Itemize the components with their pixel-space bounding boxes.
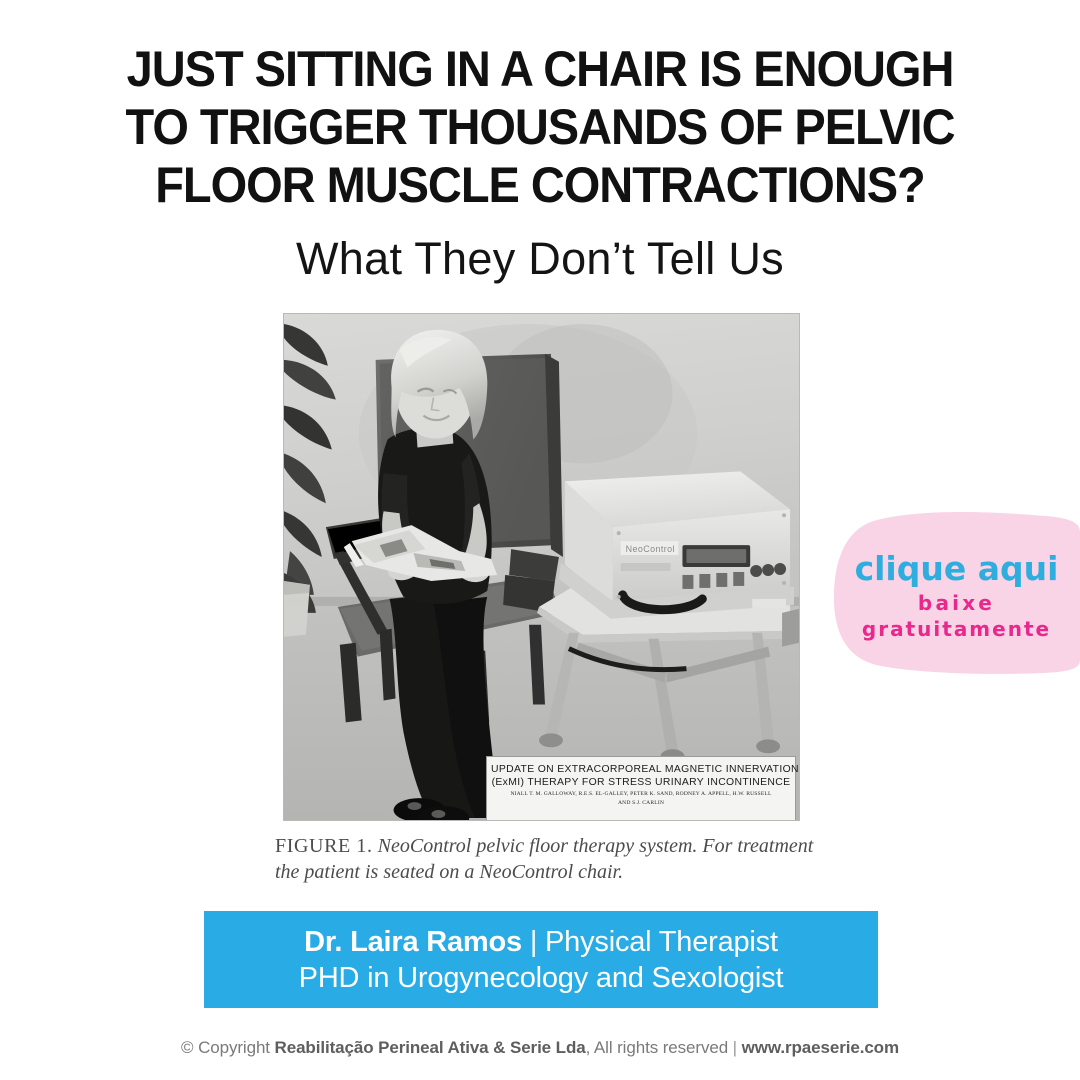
svg-text:NeoControl: NeoControl bbox=[626, 544, 675, 554]
credit-role: Physical Therapist bbox=[545, 926, 778, 958]
clinical-photograph: NeoControl bbox=[283, 313, 800, 821]
credit-doctor-name: Dr. Laira Ramos bbox=[304, 926, 522, 958]
cta-badge[interactable]: clique aqui baixe gratuitamente bbox=[833, 512, 1080, 674]
headline-line-3: FLOOR MUSCLE CONTRACTIONS? bbox=[32, 156, 1047, 214]
article-authors-line-2: AND S.J. CARLIN bbox=[491, 799, 791, 807]
cta-badge-text: clique aqui baixe gratuitamente bbox=[833, 512, 1080, 674]
figure-number: FIGURE 1. bbox=[275, 835, 373, 857]
figure-caption: FIGURE 1. NeoControl pelvic floor therap… bbox=[275, 833, 815, 885]
credit-line-2: PHD in Urogynecology and Sexologist bbox=[299, 960, 784, 996]
footer-website[interactable]: www.rpaeserie.com bbox=[742, 1038, 899, 1057]
cta-line-3: gratuitamente bbox=[862, 616, 1051, 642]
photograph-artwork: NeoControl bbox=[284, 314, 799, 820]
headline-line-1: JUST SITTING IN A CHAIR IS ENOUGH bbox=[32, 40, 1047, 98]
cta-line-2: baixe bbox=[918, 590, 995, 616]
credit-bar: Dr. Laira Ramos | Physical Therapist PHD… bbox=[204, 911, 878, 1008]
article-title-label: UPDATE ON EXTRACORPOREAL MAGNETIC INNERV… bbox=[486, 756, 796, 821]
article-title-line-2: (ExMI) THERAPY FOR STRESS URINARY INCONT… bbox=[491, 776, 791, 789]
headline-line-2: TO TRIGGER THOUSANDS OF PELVIC bbox=[32, 98, 1047, 156]
cta-line-1: clique aqui bbox=[855, 551, 1059, 587]
footer-company: Reabilitação Perineal Ativa & Serie Lda bbox=[275, 1038, 586, 1057]
article-authors-line-1: NIALL T. M. GALLOWAY, R.E.S. EL-GALLEY, … bbox=[491, 790, 791, 798]
poster-canvas: JUST SITTING IN A CHAIR IS ENOUGH TO TRI… bbox=[0, 0, 1080, 1080]
page-subtitle: What They Don’t Tell Us bbox=[0, 232, 1080, 286]
credit-line-1: Dr. Laira Ramos | Physical Therapist bbox=[304, 924, 778, 960]
footer-rights: , All rights reserved bbox=[586, 1038, 728, 1057]
footer-separator: | bbox=[728, 1038, 742, 1057]
article-title-line-1: UPDATE ON EXTRACORPOREAL MAGNETIC INNERV… bbox=[491, 763, 791, 776]
page-title: JUST SITTING IN A CHAIR IS ENOUGH TO TRI… bbox=[32, 40, 1047, 214]
credit-separator: | bbox=[522, 926, 545, 958]
footer-copyright: © Copyright Reabilitação Perineal Ativa … bbox=[0, 1036, 1080, 1060]
footer-copyright-prefix: © Copyright bbox=[181, 1038, 275, 1057]
